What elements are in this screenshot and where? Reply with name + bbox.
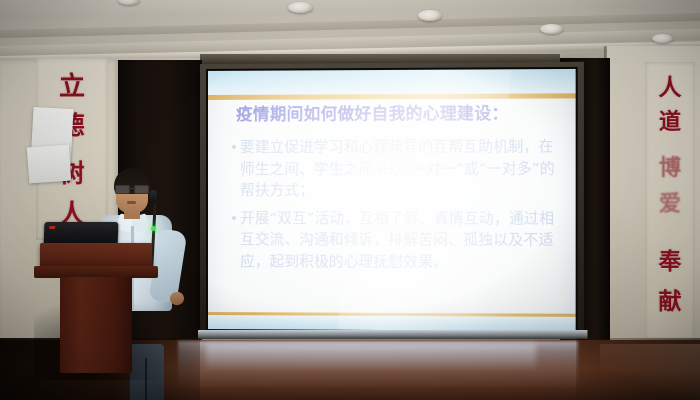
microphone-icon	[149, 190, 157, 204]
slide-footer-band	[208, 315, 576, 331]
microphone-power-led	[151, 226, 156, 231]
glasses-lens-left	[115, 185, 130, 194]
ceiling-downlight	[288, 2, 313, 13]
floor-screen-reflection-core	[206, 343, 536, 369]
ceiling-downlight	[418, 10, 442, 21]
bullet-marker-icon: •	[228, 137, 240, 158]
floor-sheen	[600, 344, 700, 400]
podium-column	[60, 277, 132, 373]
banner-right-char-4: 爱	[645, 186, 695, 218]
screen-surface: 疫情期间如何做好自我的心理建设： • 要建立促进学习和心理疏导的互帮互助机制，在…	[206, 67, 578, 333]
projection-screen: 疫情期间如何做好自我的心理建设： • 要建立促进学习和心理疏导的互帮互助机制，在…	[200, 62, 584, 338]
lecture-hall-photo: 立 德 树 人 人 道 博 爱 奉 献 疫情期间如何做好自我的心理建设： • 要…	[0, 0, 700, 400]
ceiling-downlight	[652, 34, 673, 43]
ceiling	[0, 0, 700, 62]
presentation-slide: 疫情期间如何做好自我的心理建设： • 要建立促进学习和心理疏导的互帮互助机制，在…	[208, 69, 576, 331]
slide-title: 疫情期间如何做好自我的心理建设：	[236, 99, 557, 124]
bullet-marker-icon: •	[228, 208, 240, 229]
laptop-logo	[49, 226, 55, 229]
slide-bullet-list: • 要建立促进学习和心理疏导的互帮互助机制，在师生之间、学生之间采取“一对一”或…	[228, 136, 561, 279]
banner-right-char-5: 奉	[645, 242, 695, 276]
screen-bottom-lip	[198, 330, 588, 339]
glasses-bridge	[128, 188, 136, 189]
wall-banner-right: 人 道 博 爱 奉 献	[645, 62, 695, 340]
banner-right-char-1: 人	[645, 68, 695, 102]
slide-bullet-text: 开展“双互”活动，互相了解、真情互动，通过相互交流、沟通和倾诉，排解苦闷、孤独以…	[240, 208, 561, 274]
banner-left-char-1: 立	[36, 66, 108, 103]
banner-right-char-2: 道	[645, 104, 695, 136]
presenter-mouth	[127, 201, 136, 204]
banner-right-char-6: 献	[645, 282, 695, 316]
slide-bullet-item: • 开展“双互”活动，互相了解、真情互动，通过相互交流、沟通和倾诉，排解苦闷、孤…	[228, 208, 561, 274]
ceiling-downlight	[540, 24, 563, 34]
presenter-papers-secondary	[27, 145, 71, 184]
glasses-icon	[115, 185, 149, 192]
slide-bullet-item: • 要建立促进学习和心理疏导的互帮互助机制，在师生之间、学生之间采取“一对一”或…	[228, 136, 561, 201]
slide-bullet-text: 要建立促进学习和心理疏导的互帮互助机制，在师生之间、学生之间采取“一对一”或“一…	[240, 136, 561, 201]
glasses-lens-right	[134, 185, 149, 194]
banner-right-char-3: 博	[645, 150, 695, 182]
